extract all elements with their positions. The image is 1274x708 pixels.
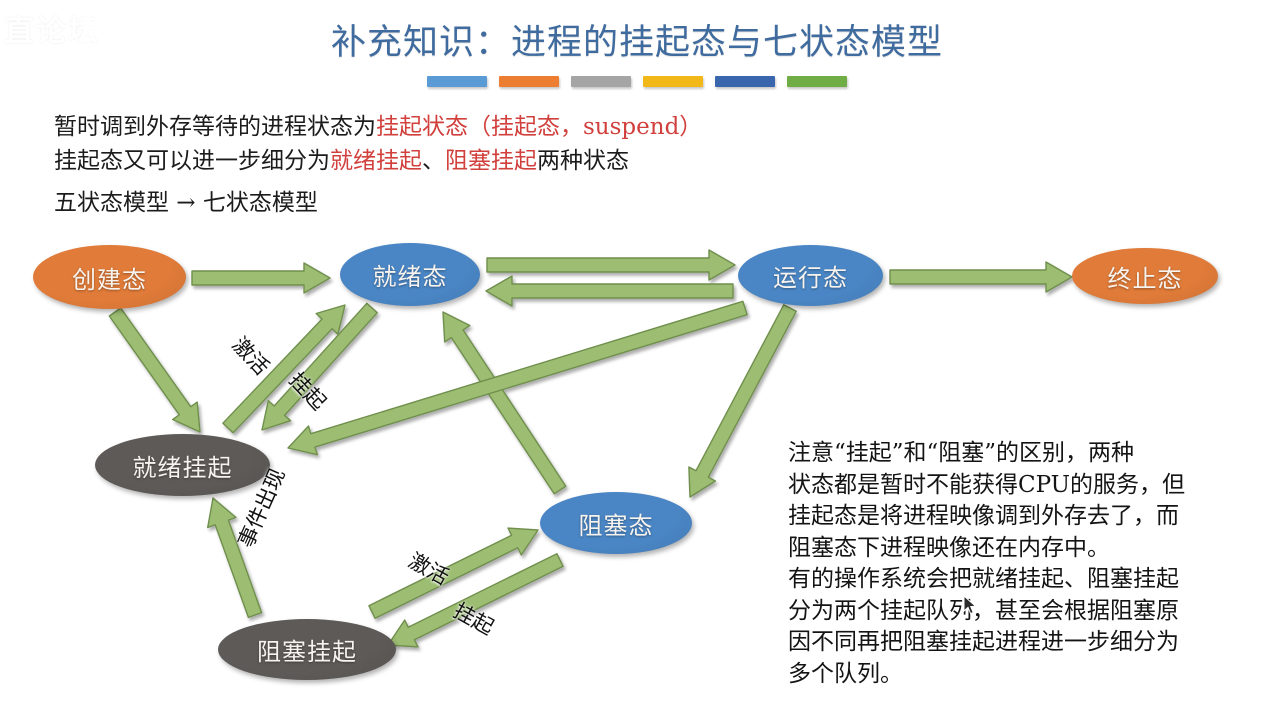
state-node-label: 运行态 [773, 258, 848, 293]
state-node-label: 阻塞态 [579, 506, 654, 541]
state-node-blocked: 阻塞态 [540, 492, 692, 554]
state-node-label: 终止态 [1108, 259, 1183, 294]
arrow-running-to-terminated [890, 262, 1072, 292]
arrow-running-to-ready [486, 276, 733, 306]
state-diagram-arrows [0, 0, 1274, 708]
state-node-label: 阻塞挂起 [257, 632, 357, 667]
mouse-cursor [963, 595, 977, 615]
state-node-label: 创建态 [72, 260, 147, 295]
state-node-ready-susp: 就绪挂起 [95, 434, 270, 496]
arrow-create-to-ready-susp [109, 308, 200, 432]
state-node-create: 创建态 [33, 245, 186, 309]
arrow-create-to-ready [192, 263, 330, 293]
arrow-running-to-blocked [689, 305, 796, 497]
state-node-label: 就绪挂起 [133, 448, 233, 483]
state-node-running: 运行态 [738, 245, 883, 306]
state-node-ready: 就绪态 [340, 243, 480, 306]
slide-canvas: 直论坛 补充知识：进程的挂起态与七状态模型 暂时调到外存等待的进程状态为挂起状态… [0, 0, 1274, 708]
state-node-terminated: 终止态 [1072, 248, 1218, 304]
arrow-ready-to-running [487, 250, 735, 280]
state-node-label: 就绪态 [373, 257, 448, 292]
state-node-blocked-susp: 阻塞挂起 [218, 619, 396, 680]
